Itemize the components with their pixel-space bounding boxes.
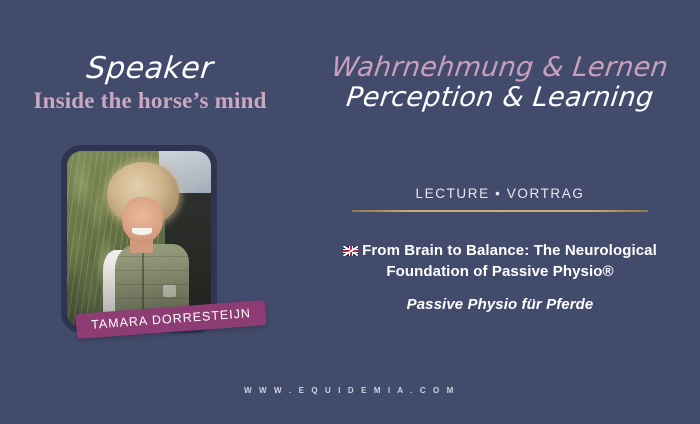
topic-heading-de: Wahrnehmung & Lernen (298, 54, 700, 81)
speaker-photo (67, 151, 211, 327)
uk-flag-icon (343, 246, 358, 256)
lecture-title: From Brain to Balance: The Neurological … (308, 241, 692, 282)
session-column: Wahrnehmung & Lernen Perception & Learni… (300, 0, 700, 424)
event-announcement-slide: Speaker Inside the horse’s mind TAMARA (0, 0, 700, 424)
session-type-label: LECTURE • VORTRAG (300, 186, 700, 201)
speaker-tagline: Inside the horse’s mind (0, 88, 300, 113)
lecture-subtitle: Passive Physio für Pferde (308, 296, 692, 313)
lecture-title-text: From Brain to Balance: The Neurological … (362, 242, 657, 280)
topic-heading-en: Perception & Learning (298, 84, 700, 111)
speaker-column: Speaker Inside the horse’s mind TAMARA (0, 0, 300, 424)
footer-website-url: W W W . E Q U I D E M I A . C O M (0, 386, 700, 395)
gold-divider (352, 210, 648, 212)
photo-vignette (67, 151, 211, 327)
speaker-script-heading: Speaker (0, 54, 302, 84)
